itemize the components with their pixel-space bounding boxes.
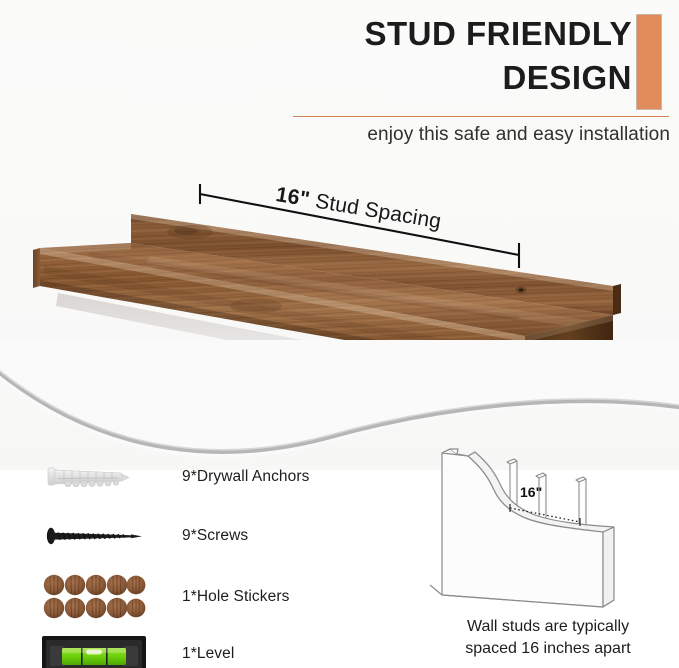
stud-spacing-value: 16"	[274, 183, 311, 211]
bubble-level-icon	[36, 629, 161, 668]
parts-list-item: 9*Screws	[36, 511, 376, 565]
wall-stud-diagram: 16"	[428, 440, 668, 615]
parts-list: 9*Drywall Anchors	[36, 452, 376, 668]
product-infographic: STUD FRIENDLY DESIGN enjoy this safe and…	[0, 0, 679, 668]
screw-icon	[36, 511, 161, 565]
hole-sticker-sheet-icon	[36, 570, 161, 624]
parts-list-item: 1*Hole Stickers	[36, 570, 376, 624]
parts-list-label: 1*Level	[182, 645, 234, 663]
stud-diagram-measure-label: 16"	[520, 484, 542, 500]
parts-list-item: 1*Level	[36, 629, 376, 668]
stud-diagram-caption: Wall studs are typically spaced 16 inche…	[428, 616, 668, 659]
parts-list-label: 1*Hole Stickers	[182, 588, 289, 606]
parts-list-item: 9*Drywall Anchors	[36, 452, 376, 506]
stud-caption-line-1: Wall studs are typically	[428, 616, 668, 638]
stud-caption-line-2: spaced 16 inches apart	[428, 638, 668, 660]
parts-list-label: 9*Screws	[182, 527, 248, 545]
parts-list-label: 9*Drywall Anchors	[182, 468, 309, 486]
drywall-anchor-icon	[36, 452, 161, 506]
